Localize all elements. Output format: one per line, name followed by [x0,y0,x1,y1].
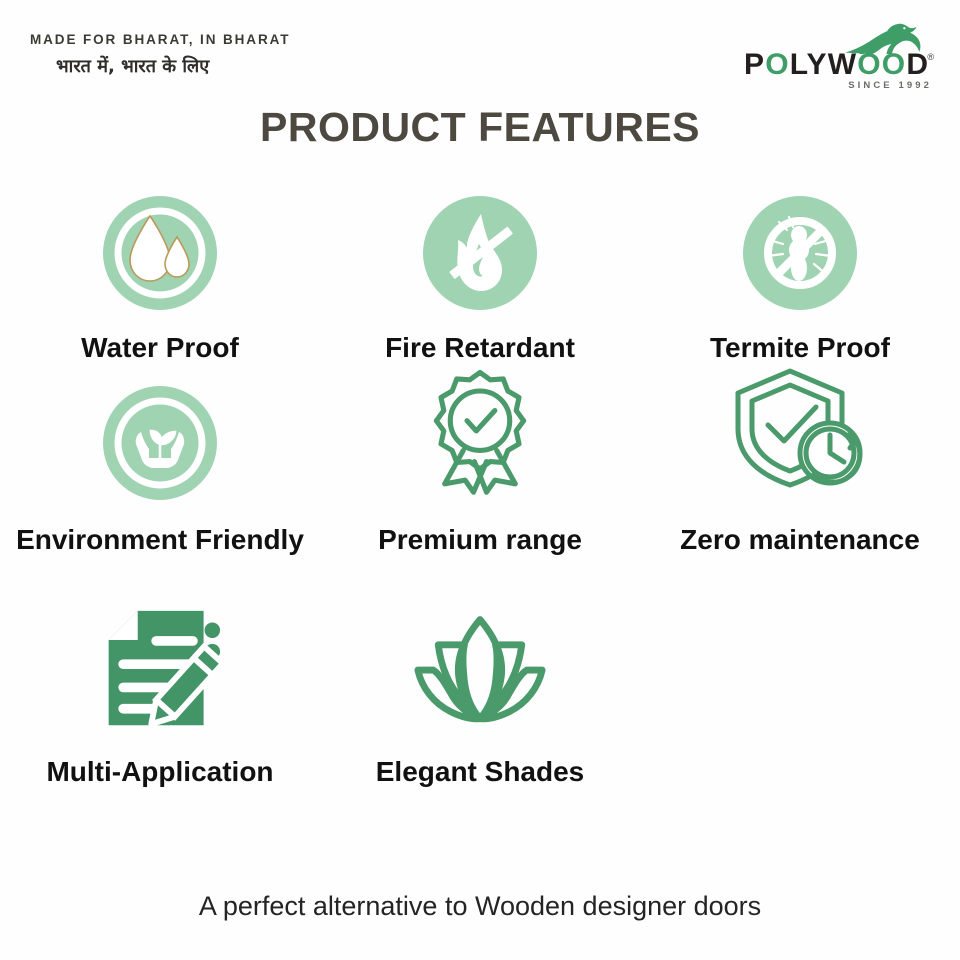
hands-holding-sprout-icon [103,386,217,500]
product-features-infographic: MADE FOR BHARAT, IN BHARAT भारत में, भार… [0,0,960,960]
feature-multi-application: Multi-Application [0,606,320,796]
registered-trademark-icon: ® [927,52,934,62]
features-row-2: Environment Friendly [0,360,960,606]
feature-icon-slot [730,360,870,500]
feature-elegant-shades: Elegant Shades [320,606,640,796]
no-termite-icon [743,196,857,310]
feature-label: Premium range [378,524,582,556]
feature-icon-slot [103,360,217,500]
feature-icon-slot [423,196,537,310]
features-row-1: Water Proof Fire Retardant [0,196,960,360]
feature-premium-range: Premium range [320,360,640,606]
tagline-hindi: भारत में, भारत के लिए [56,54,290,78]
feature-fire-retardant: Fire Retardant [320,196,640,360]
feature-label: Zero maintenance [680,524,920,556]
brand-wordmark: POLYWOOD [744,50,934,80]
feature-label: Elegant Shades [376,756,585,788]
shield-check-clock-icon [730,365,870,500]
feature-icon-slot [424,360,536,500]
feature-icon-slot [743,196,857,310]
feature-environment-friendly: Environment Friendly [0,360,320,606]
tagline-english: MADE FOR BHARAT, IN BHARAT [30,32,290,47]
page-title: PRODUCT FEATURES [0,104,960,151]
water-drops-icon [103,196,217,310]
tagline-block: MADE FOR BHARAT, IN BHARAT भारत में, भार… [30,32,290,78]
features-row-3: Multi-Application [0,606,960,796]
feature-label: Environment Friendly [16,524,304,556]
feature-icon-slot [412,606,548,736]
features-grid: Water Proof Fire Retardant [0,196,960,796]
lotus-flower-icon [412,613,548,736]
feature-icon-slot [97,606,223,736]
feature-zero-maintenance: Zero maintenance [640,360,960,606]
award-ribbon-check-icon [424,365,536,500]
no-fire-flame-icon [423,196,537,310]
feature-termite-proof: Termite Proof [640,196,960,360]
feature-icon-slot [103,196,217,310]
footer-note: A perfect alternative to Wooden designer… [0,891,960,922]
feature-label: Multi-Application [46,756,273,788]
brand-logo: POLYWOOD ® SINCE 1992 [744,22,934,92]
feature-water-proof: Water Proof [0,196,320,360]
brand-since-text: SINCE 1992 [848,80,932,91]
document-pencil-icon [97,607,223,736]
